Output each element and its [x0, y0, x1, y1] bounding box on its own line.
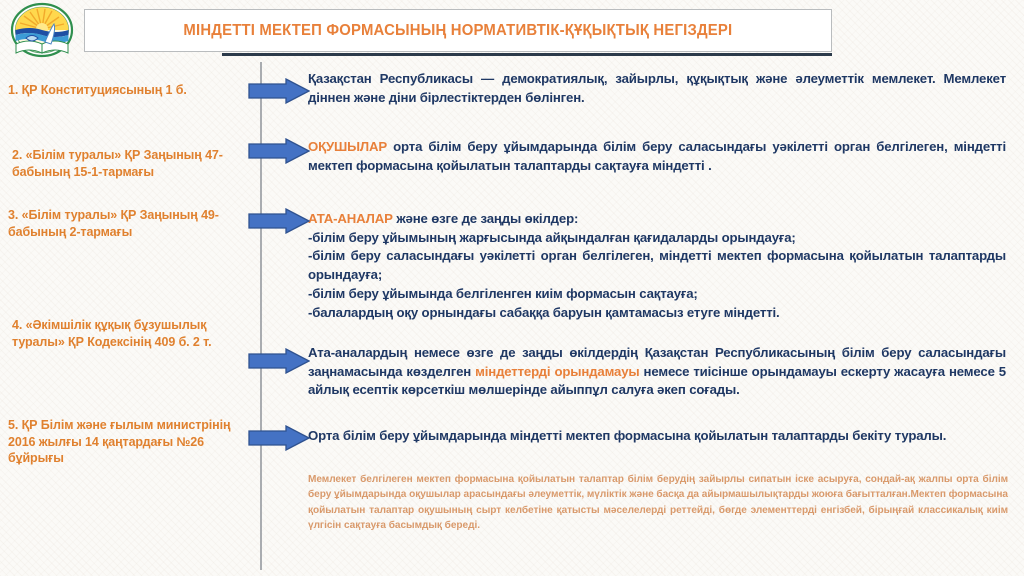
- reference-item-3: 3. «Білім туралы» ҚР Заңының 49-бабының …: [8, 207, 238, 240]
- reference-item-5: 5. ҚР Білім және ғылым министрінің 2016 …: [8, 417, 248, 467]
- para3-item-4: -балалардың оқу орнындағы сабаққа баруын…: [308, 304, 1006, 323]
- paragraph-ministerial-order: Орта білім беру ұйымдарында міндетті мек…: [308, 427, 1006, 446]
- para3-highlight: АТА-АНАЛАР: [308, 211, 393, 226]
- paragraph-students: ОҚУШЫЛАР орта білім беру ұйымдарында біл…: [308, 138, 1006, 175]
- right-arrow-icon-5: [248, 425, 310, 451]
- paragraph-constitution: Қазақстан Республикасы — демократиялық, …: [308, 70, 1006, 107]
- para5-text: Орта білім беру ұйымдарында міндетті мек…: [308, 428, 946, 443]
- reference-item-2: 2. «Білім туралы» ҚР Заңының 47-бабының …: [12, 147, 252, 180]
- footnote-text: Мемлекет белгілеген мектеп формасына қой…: [308, 472, 1008, 533]
- para3-item-1: -білім беру ұйымының жарғысында айқындал…: [308, 229, 1006, 248]
- slide-title-box: МІНДЕТТІ МЕКТЕП ФОРМАСЫНЫҢ НОРМАТИВТІК-Қ…: [84, 9, 832, 52]
- reference-item-1: 1. ҚР Конституциясының 1 б.: [8, 82, 254, 99]
- para3-item-2: -білім беру саласындағы уәкілетті орган …: [308, 247, 1006, 284]
- paragraph-parents: АТА-АНАЛАР және өзге де заңды өкілдер: -…: [308, 210, 1006, 322]
- para2-highlight: ОҚУШЫЛАР: [308, 139, 387, 154]
- reference-item-4: 4. «Әкімшілік құқық бұзушылық туралы» ҚР…: [12, 317, 240, 350]
- right-arrow-icon-3: [248, 208, 310, 234]
- para3-item-3: -білім беру ұйымында белгіленген киім фо…: [308, 285, 1006, 304]
- right-arrow-icon-1: [248, 78, 310, 104]
- right-arrow-icon-2: [248, 138, 310, 164]
- title-shadow-bar: [222, 53, 832, 56]
- para2-rest: орта білім беру ұйымдарында білім беру с…: [308, 139, 1006, 173]
- para3-rest: және өзге де заңды өкілдер:: [393, 211, 578, 226]
- para4-highlight: міндеттерді орындамауы: [475, 364, 639, 379]
- paragraph-administrative-liability: Ата-аналардың немесе өзге де заңды өкілд…: [308, 344, 1006, 400]
- para1-text: Қазақстан Республикасы — демократиялық, …: [308, 71, 1006, 105]
- school-logo-icon: [4, 2, 80, 58]
- right-arrow-icon-4: [248, 348, 310, 374]
- references-column: 1. ҚР Конституциясының 1 б. 2. «Білім ту…: [0, 62, 258, 562]
- page-title: МІНДЕТТІ МЕКТЕП ФОРМАСЫНЫҢ НОРМАТИВТІК-Қ…: [184, 22, 733, 40]
